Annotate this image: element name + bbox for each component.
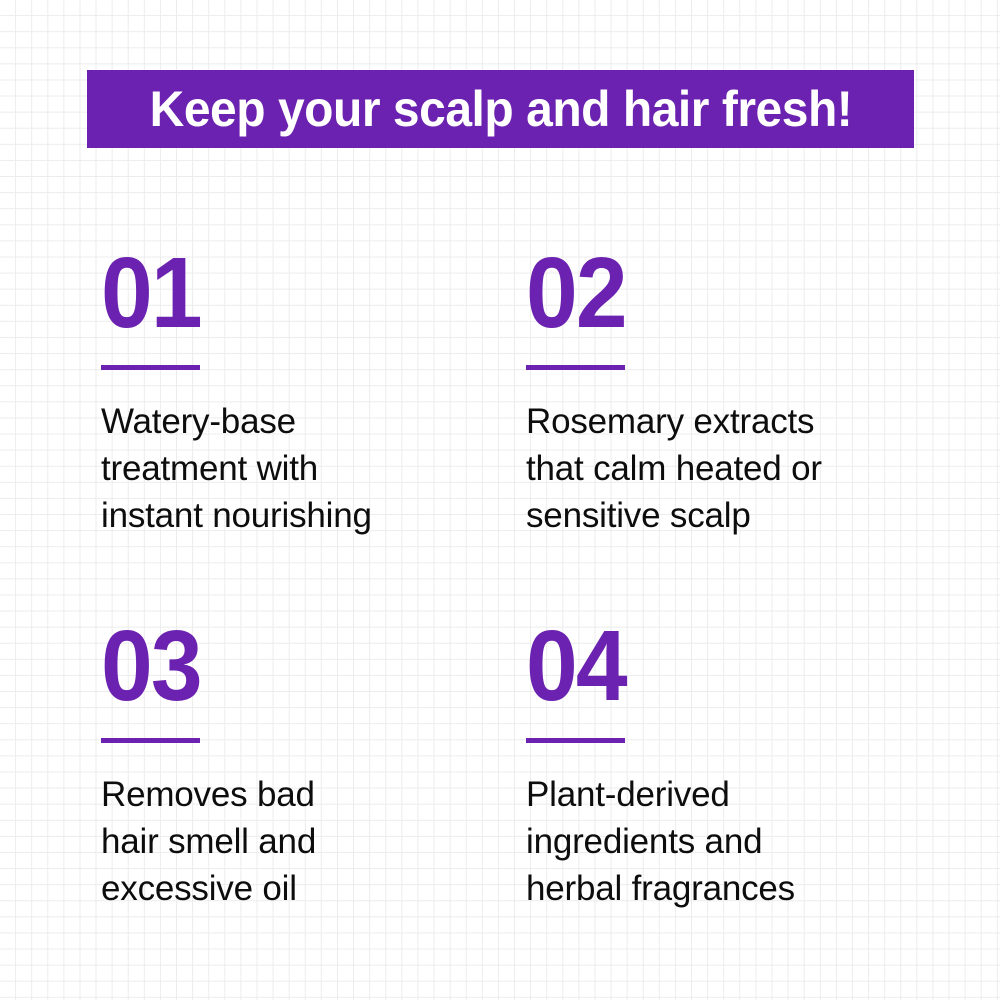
feature-item-02: 02 Rosemary extracts that calm heated or… [526,243,951,616]
feature-text-03: Removes bad hair smell and excessive oil [101,771,501,912]
feature-rule-04 [526,738,625,743]
feature-rule-01 [101,365,200,370]
feature-number-03: 03 [101,616,496,712]
feature-text-01: Watery-base treatment with instant nouri… [101,398,501,539]
feature-text-02: Rosemary extracts that calm heated or se… [526,398,926,539]
feature-number-02: 02 [526,243,921,339]
feature-rule-02 [526,365,625,370]
feature-item-01: 01 Watery-base treatment with instant no… [101,243,526,616]
page-title: Keep your scalp and hair fresh! [149,84,852,134]
feature-text-04: Plant-derived ingredients and herbal fra… [526,771,926,912]
feature-number-04: 04 [526,616,921,712]
feature-rule-03 [101,738,200,743]
feature-number-01: 01 [101,243,496,339]
feature-item-04: 04 Plant-derived ingredients and herbal … [526,616,951,912]
header-banner: Keep your scalp and hair fresh! [87,70,914,148]
feature-grid: 01 Watery-base treatment with instant no… [101,243,961,912]
poster-canvas: Keep your scalp and hair fresh! 01 Water… [0,0,1000,1000]
feature-item-03: 03 Removes bad hair smell and excessive … [101,616,526,912]
